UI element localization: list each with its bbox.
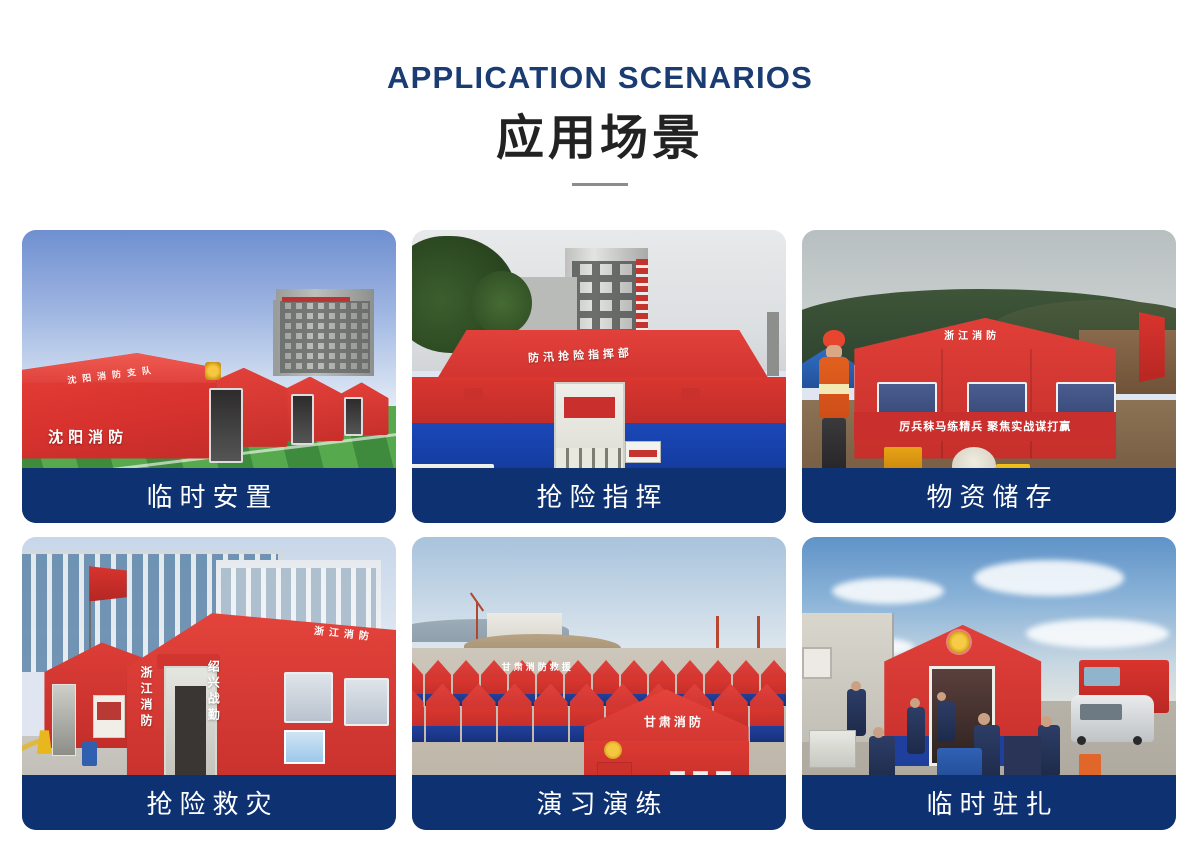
tent-window-2 xyxy=(344,678,389,726)
fire-service-emblem-icon xyxy=(604,741,622,759)
scenario-caption: 临时安置 xyxy=(22,468,396,523)
scenario-card-disaster-relief[interactable]: 浙江消防 绍兴战勤 浙江消防 抢险救灾 xyxy=(22,537,396,830)
tent-foreground-label: 甘肃消防 xyxy=(644,713,704,730)
tent-background-door xyxy=(52,684,76,756)
person-head-seated xyxy=(978,713,990,725)
scenario-caption: 演习演练 xyxy=(412,775,786,830)
scenario-caption: 临时驻扎 xyxy=(802,775,1176,830)
panel-stack xyxy=(809,730,856,767)
page-title: 应用场景 xyxy=(0,115,1200,163)
tent-unit xyxy=(750,684,784,742)
tent-seam-right xyxy=(1030,349,1032,459)
tent-roof-label: 浙江消防 xyxy=(944,327,1000,342)
cloud-2 xyxy=(974,560,1124,595)
person-head-inside xyxy=(937,692,946,701)
slogan-banner: 厉兵秣马练精兵 聚焦实战谋打赢 xyxy=(854,412,1116,441)
smokestack-1 xyxy=(716,616,719,651)
blue-bin xyxy=(82,742,97,765)
tree-small xyxy=(472,271,532,335)
tent-door-1 xyxy=(209,388,243,462)
background-building xyxy=(276,289,373,377)
tent-unit xyxy=(426,684,460,742)
folding-chair xyxy=(1004,736,1041,777)
page-header: APPLICATION SCENARIOS 应用场景 xyxy=(0,0,1200,186)
tent-vertical-label-2: 绍兴战勤 xyxy=(205,660,222,724)
red-flag xyxy=(1139,312,1165,382)
container-window xyxy=(802,647,831,679)
building-windows xyxy=(280,301,369,373)
scenario-caption: 物资储存 xyxy=(802,468,1176,523)
poster-board xyxy=(93,695,125,738)
tent-vent-right xyxy=(681,388,700,400)
firefighter-figure xyxy=(817,330,851,482)
slogan-banner-text: 厉兵秣马练精兵 聚焦实战谋打赢 xyxy=(899,418,1071,434)
tent-unit xyxy=(498,684,532,742)
scenario-card-drill-exercise[interactable]: 甘肃消防救援 甘肃消防 演习演练 xyxy=(412,537,786,830)
person-inside-tent xyxy=(937,701,956,742)
tent-row-label: 甘肃消防救援 xyxy=(502,660,574,673)
page-eyebrow: APPLICATION SCENARIOS xyxy=(0,62,1200,93)
person-standing-left xyxy=(847,689,866,736)
white-van xyxy=(1071,695,1153,742)
tent-unit xyxy=(534,684,568,742)
tent-window-1 xyxy=(284,672,333,723)
cloud-3 xyxy=(1026,619,1168,648)
fire-service-emblem-icon xyxy=(205,362,221,380)
title-divider xyxy=(572,183,628,186)
scenario-caption: 抢险指挥 xyxy=(412,468,786,523)
reflective-stripe xyxy=(819,384,849,393)
tent-side-label: 沈阳消防 xyxy=(48,426,128,447)
info-sign-board xyxy=(625,441,661,464)
tent-door-2 xyxy=(291,394,314,445)
scenario-card-supply-storage[interactable]: 浙江消防 厉兵秣马练精兵 聚焦实战谋打赢 xyxy=(802,230,1176,523)
tent-vent-left xyxy=(464,388,483,400)
tent-vertical-label-1: 浙江消防 xyxy=(138,666,155,730)
scenario-caption: 抢险救灾 xyxy=(22,775,396,830)
fire-service-emblem-icon xyxy=(948,631,970,653)
tent-door-3 xyxy=(344,397,363,436)
scenario-card-temporary-stationing[interactable]: 临时驻扎 xyxy=(802,537,1176,830)
person-head-left xyxy=(851,681,861,691)
interior-banner xyxy=(564,397,615,418)
scenario-card-temporary-resettlement[interactable]: 沈阳消防支队 沈阳消防 临时安置 xyxy=(22,230,396,523)
utility-pole xyxy=(767,312,778,376)
application-scenarios-page: APPLICATION SCENARIOS 应用场景 xyxy=(0,0,1200,861)
information-sign xyxy=(284,730,325,763)
tent-unit xyxy=(412,684,424,742)
scenario-grid: 沈阳消防支队 沈阳消防 临时安置 xyxy=(22,230,1180,830)
person-bending xyxy=(907,707,926,754)
red-flag xyxy=(89,566,126,601)
tent-unit xyxy=(462,684,496,742)
scenario-card-rescue-command[interactable]: 防汛抢险指挥部 抢险指挥 xyxy=(412,230,786,523)
tent-seam-left xyxy=(941,349,943,459)
